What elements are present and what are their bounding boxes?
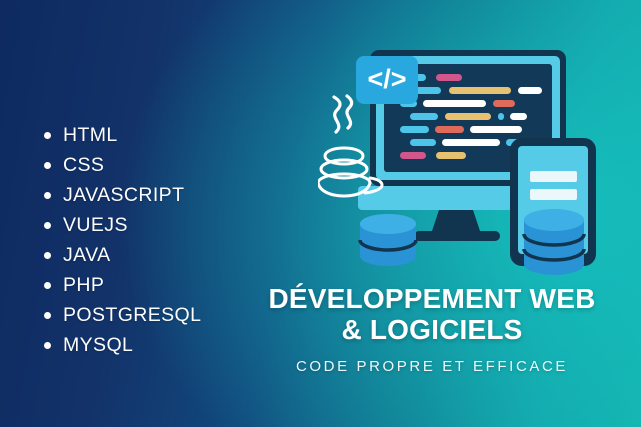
list-item: CSS — [44, 150, 201, 180]
headline-line-1: DÉVELOPPEMENT WEB — [232, 283, 632, 314]
tablet-bar-top — [530, 171, 577, 182]
list-item: MYSQL — [44, 330, 201, 360]
tech-label: HTML — [63, 124, 118, 147]
tech-label: VUEJS — [63, 214, 128, 237]
bullet-icon — [44, 132, 51, 139]
list-item: HTML — [44, 120, 201, 150]
bullet-icon — [44, 282, 51, 289]
code-badge-glyph: </> — [367, 64, 406, 94]
database-icon-left — [360, 214, 416, 266]
bullet-icon — [44, 162, 51, 169]
monitor-stand-neck — [431, 210, 481, 234]
tech-label: MYSQL — [63, 334, 133, 357]
code-badge: </> — [356, 56, 418, 104]
list-item: JAVASCRIPT — [44, 180, 201, 210]
development-illustration: </> — [318, 28, 628, 283]
tech-label: POSTGRESQL — [63, 304, 201, 327]
subtitle: CODE PROPRE ET EFFICACE — [232, 358, 632, 375]
bullet-icon — [44, 192, 51, 199]
monitor-stand-base — [414, 231, 500, 241]
bullet-icon — [44, 342, 51, 349]
headline-block: DÉVELOPPEMENT WEB & LOGICIELS CODE PROPR… — [232, 283, 632, 375]
tech-label: CSS — [63, 154, 104, 177]
list-item: JAVA — [44, 240, 201, 270]
database-icon-right — [524, 209, 584, 275]
tech-label: PHP — [63, 274, 104, 297]
bullet-icon — [44, 252, 51, 259]
bullet-icon — [44, 222, 51, 229]
headline-line-2: & LOGICIELS — [232, 314, 632, 345]
tech-label: JAVA — [63, 244, 110, 267]
tablet-bar-bottom — [530, 189, 577, 200]
list-item: VUEJS — [44, 210, 201, 240]
tech-label: JAVASCRIPT — [63, 184, 184, 207]
list-item: PHP — [44, 270, 201, 300]
bullet-icon — [44, 312, 51, 319]
tech-stack-list: HTML CSS JAVASCRIPT VUEJS JAVA PHP POSTG… — [44, 120, 201, 360]
list-item: POSTGRESQL — [44, 300, 201, 330]
banner-canvas: HTML CSS JAVASCRIPT VUEJS JAVA PHP POSTG… — [0, 0, 641, 427]
